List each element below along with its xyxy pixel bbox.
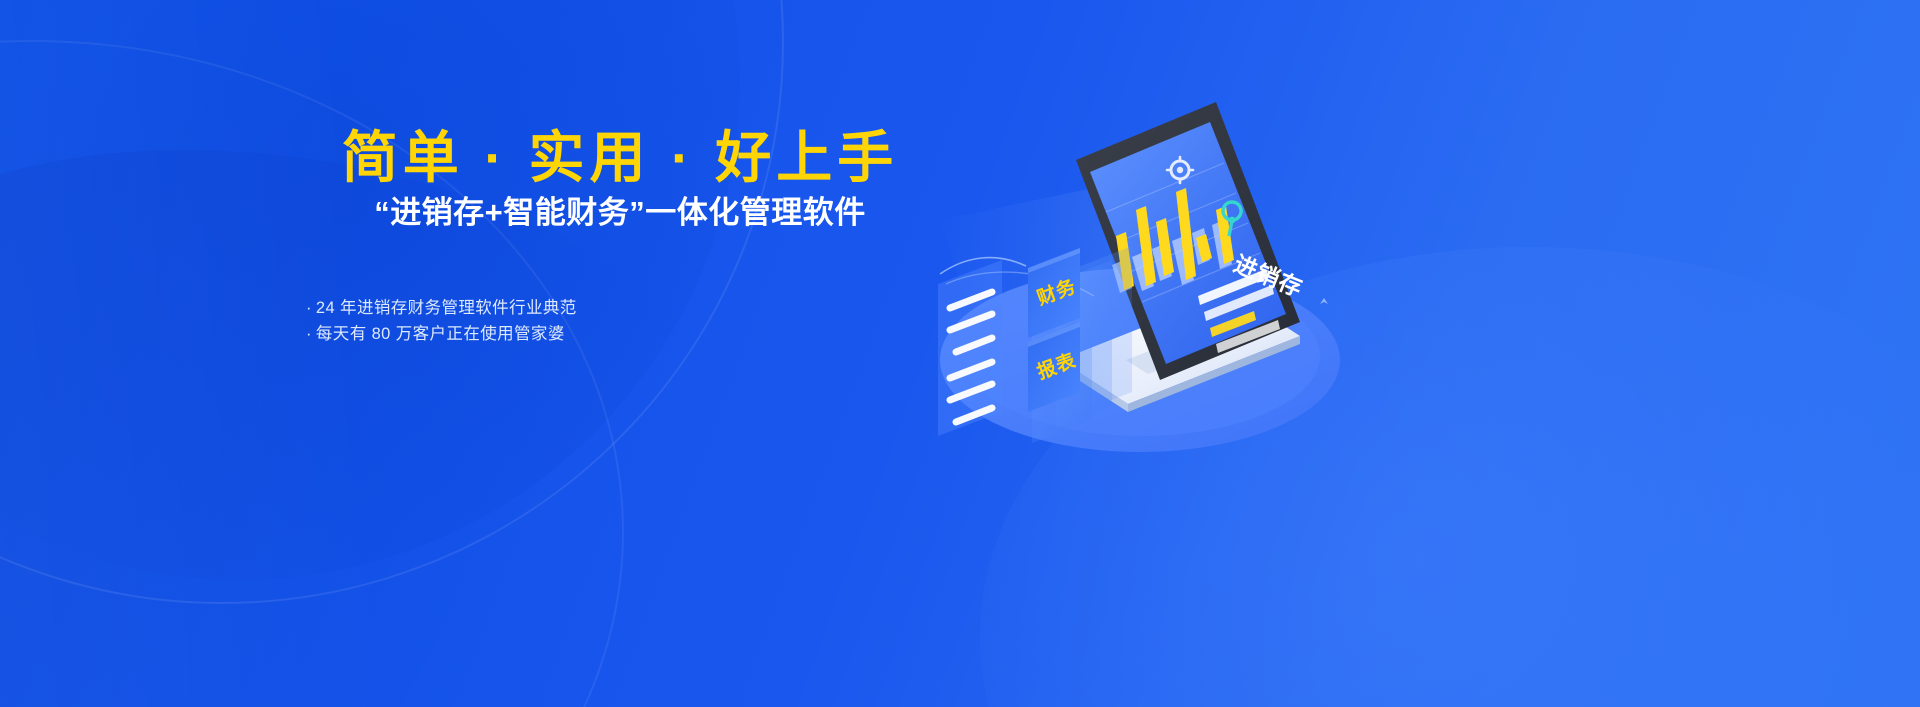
subheadline: “进销存+智能财务”一体化管理软件: [300, 194, 940, 233]
promo-banner: 简单 · 实用 · 好上手 “进销存+智能财务”一体化管理软件 ·24 年进销存…: [0, 0, 1920, 707]
isometric-illustration: 进销存: [880, 60, 1400, 480]
bullet-item: ·24 年进销存财务管理软件行业典范: [306, 295, 940, 321]
sparkle-icon: [1320, 298, 1328, 304]
bullet-item: ·每天有 80 万客户正在使用管家婆: [306, 321, 940, 347]
document-panel: [938, 260, 1002, 436]
bullet-text: 24 年进销存财务管理软件行业典范: [316, 299, 577, 317]
bullet-text: 每天有 80 万客户正在使用管家婆: [316, 325, 565, 343]
bullet-list: ·24 年进销存财务管理软件行业典范 ·每天有 80 万客户正在使用管家婆: [300, 295, 940, 347]
bullet-marker-icon: ·: [306, 299, 312, 317]
headline: 简单 · 实用 · 好上手: [300, 128, 940, 188]
copy-block: 简单 · 实用 · 好上手 “进销存+智能财务”一体化管理软件 ·24 年进销存…: [300, 128, 940, 347]
bullet-marker-icon: ·: [306, 325, 312, 343]
